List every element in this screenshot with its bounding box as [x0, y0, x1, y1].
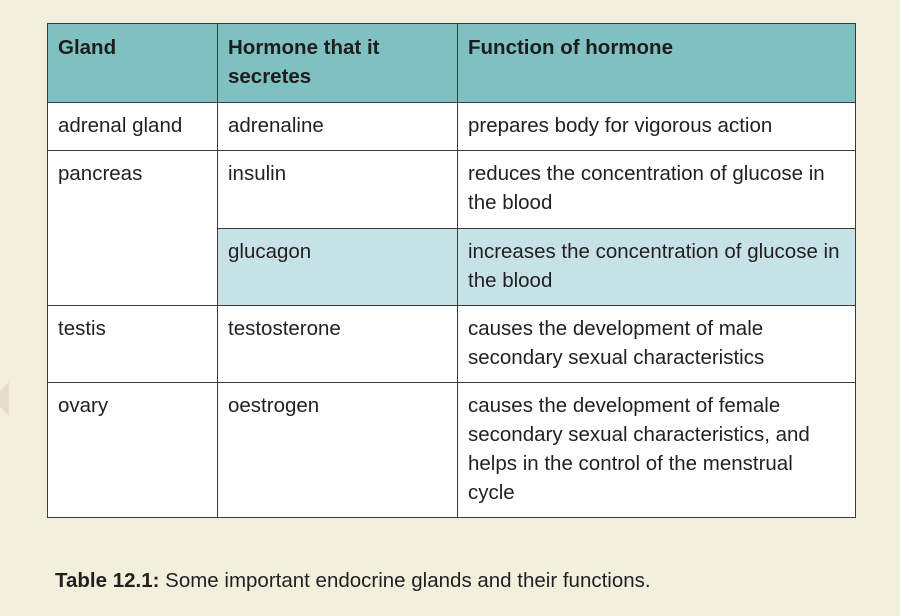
table-row: pancreas insulin reduces the concentrati…	[48, 151, 856, 228]
cell-gland: testis	[48, 305, 218, 382]
cell-hormone: oestrogen	[218, 382, 458, 517]
column-header-gland: Gland	[48, 24, 218, 103]
column-header-hormone: Hormone that it secretes	[218, 24, 458, 103]
chevron-left-icon[interactable]	[0, 382, 9, 416]
cell-function: causes the development of male secondary…	[458, 305, 856, 382]
table-row: testis testosterone causes the developme…	[48, 305, 856, 382]
table-header-row: Gland Hormone that it secretes Function …	[48, 24, 856, 103]
cell-function: increases the concentration of glucose i…	[458, 228, 856, 305]
cell-hormone: adrenaline	[218, 103, 458, 151]
table-body: adrenal gland adrenaline prepares body f…	[48, 103, 856, 518]
cell-function: prepares body for vigorous action	[458, 103, 856, 151]
cell-hormone: testosterone	[218, 305, 458, 382]
cell-hormone: glucagon	[218, 228, 458, 305]
cell-gland: ovary	[48, 382, 218, 517]
endocrine-glands-table: Gland Hormone that it secretes Function …	[47, 23, 856, 518]
page-root: Gland Hormone that it secretes Function …	[0, 0, 900, 616]
cell-function: reduces the concentration of glucose in …	[458, 151, 856, 228]
table-caption: Table 12.1: Some important endocrine gla…	[55, 567, 855, 595]
table-row: ovary oestrogen causes the development o…	[48, 382, 856, 517]
table-caption-label: Table 12.1:	[55, 569, 159, 592]
table-caption-text: Some important endocrine glands and thei…	[159, 569, 650, 592]
cell-gland: pancreas	[48, 151, 218, 305]
column-header-function: Function of hormone	[458, 24, 856, 103]
table-header: Gland Hormone that it secretes Function …	[48, 24, 856, 103]
table-row: adrenal gland adrenaline prepares body f…	[48, 103, 856, 151]
cell-function: causes the development of female seconda…	[458, 382, 856, 517]
cell-hormone: insulin	[218, 151, 458, 228]
cell-gland: adrenal gland	[48, 103, 218, 151]
endocrine-table-container: Gland Hormone that it secretes Function …	[47, 23, 855, 518]
